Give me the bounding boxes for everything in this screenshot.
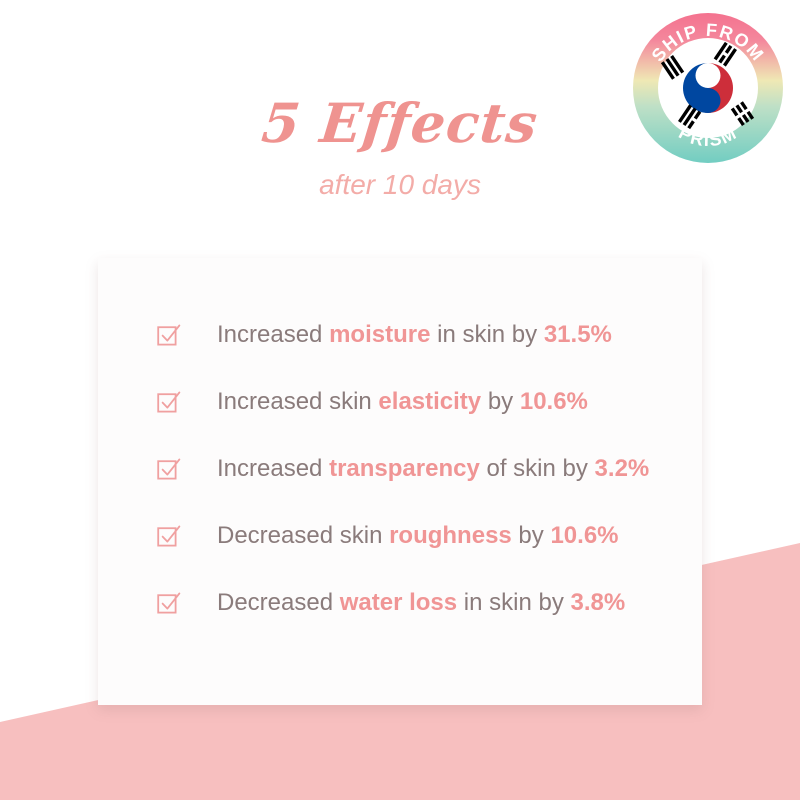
effect-highlight: 3.8% xyxy=(571,589,626,616)
effect-plain-text: Decreased skin xyxy=(217,522,389,549)
promo-graphic: SHIP FROM PRISM 5 Effects after 10 days … xyxy=(0,0,800,800)
effect-plain-text: in skin by xyxy=(430,321,543,348)
effects-list: Increased moisture in skin by 31.5%Incre… xyxy=(98,258,702,705)
effect-highlight: 3.2% xyxy=(595,455,650,482)
effect-plain-text: Increased xyxy=(217,321,329,348)
effect-item: Decreased skin roughness by 10.6% xyxy=(98,519,702,553)
checkbox-checked-icon xyxy=(156,389,182,415)
effect-plain-text: of skin by xyxy=(480,455,595,482)
effect-text: Increased transparency of skin by 3.2% xyxy=(217,454,649,484)
checkbox-checked-icon xyxy=(156,322,182,348)
effect-highlight: elasticity xyxy=(378,388,481,415)
effects-card: Increased moisture in skin by 31.5%Incre… xyxy=(98,258,702,705)
effect-highlight: transparency xyxy=(329,455,480,482)
effect-highlight: 10.6% xyxy=(520,388,588,415)
effect-item: Increased transparency of skin by 3.2% xyxy=(98,452,702,486)
effect-text: Decreased water loss in skin by 3.8% xyxy=(217,588,625,618)
effect-plain-text: by xyxy=(512,522,551,549)
effect-item: Increased skin elasticity by 10.6% xyxy=(98,385,702,419)
effect-highlight: moisture xyxy=(329,321,430,348)
page-title: 5 Effects xyxy=(0,92,800,154)
effect-highlight: 10.6% xyxy=(550,522,618,549)
effect-plain-text: Decreased xyxy=(217,589,340,616)
effect-plain-text: Increased xyxy=(217,455,329,482)
effect-plain-text: in skin by xyxy=(457,589,570,616)
page-subtitle: after 10 days xyxy=(0,168,800,202)
effect-highlight: roughness xyxy=(389,522,512,549)
effect-item: Increased moisture in skin by 31.5% xyxy=(98,318,702,352)
checkbox-checked-icon xyxy=(156,523,182,549)
headline-block: 5 Effects after 10 days xyxy=(0,92,800,202)
effect-plain-text: Increased skin xyxy=(217,388,378,415)
effect-text: Decreased skin roughness by 10.6% xyxy=(217,521,619,551)
checkbox-checked-icon xyxy=(156,456,182,482)
effect-item: Decreased water loss in skin by 3.8% xyxy=(98,586,702,620)
effect-text: Increased skin elasticity by 10.6% xyxy=(217,387,588,417)
effect-highlight: 31.5% xyxy=(544,321,612,348)
effect-plain-text: by xyxy=(481,388,520,415)
effect-text: Increased moisture in skin by 31.5% xyxy=(217,320,612,350)
checkbox-checked-icon xyxy=(156,590,182,616)
effect-highlight: water loss xyxy=(340,589,457,616)
